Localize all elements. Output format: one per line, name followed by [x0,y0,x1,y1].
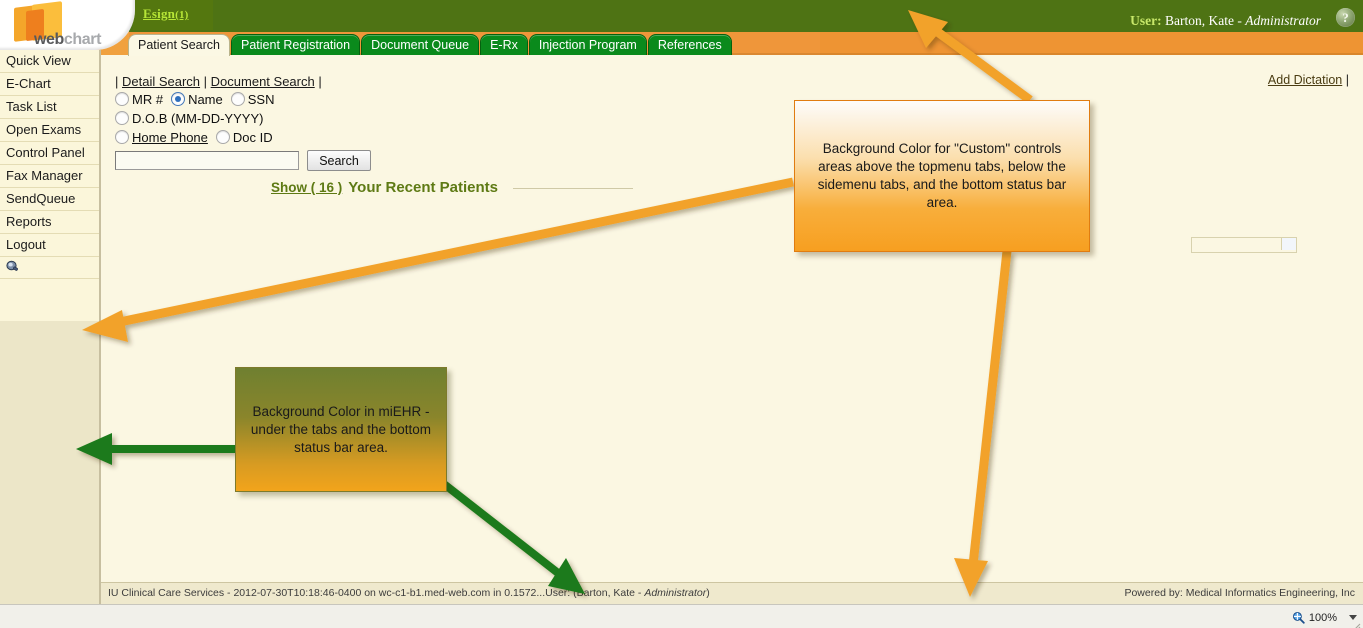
radio-mr-number[interactable] [115,92,129,106]
top-header-bar: Esign(1) User: Barton, Kate - Administra… [0,0,1363,32]
tab-patient-search[interactable]: Patient Search [128,34,230,56]
logo-word-web: web [34,31,64,48]
sidebar-item-control-panel[interactable]: Control Panel [0,142,99,165]
search-type-row-1: MR #NameSSN [115,92,282,107]
browser-status-bar: 100% [0,604,1363,628]
radio-name[interactable] [171,92,185,106]
main-content: | Detail Search | Document Search | Add … [101,55,1363,582]
logo-card-2 [32,1,62,41]
status-role: Administrator [644,587,706,599]
sidebar-plug-row[interactable] [0,257,99,279]
tab-patient-registration[interactable]: Patient Registration [231,34,360,56]
help-icon[interactable]: ? [1336,8,1355,27]
breadcrumb: | Detail Search | Document Search | [115,74,322,89]
sidebar-item-fax-manager[interactable]: Fax Manager [0,165,99,188]
zoom-level-value: 100% [1309,612,1337,624]
search-button[interactable]: Search [307,150,371,171]
radio-doc-id[interactable] [216,130,230,144]
recent-patients-title: Your Recent Patients [348,179,498,196]
breadcrumb-prefix: | [115,74,122,89]
status-bar-left-text: IU Clinical Care Services - 2012-07-30T1… [108,587,710,599]
detail-search-link[interactable]: Detail Search [122,74,200,89]
search-type-row-2: D.O.B (MM-DD-YYYY) [115,111,271,126]
sidebar-item-open-exams[interactable]: Open Exams [0,119,99,142]
esign-label: Esign [143,6,175,21]
sidebar-empty-area [0,321,99,628]
add-dictation-link[interactable]: Add Dictation [1268,73,1342,87]
recent-patients-header: Show ( 16 )Your Recent Patients [271,179,498,197]
custom-background-callout-text: Background Color for "Custom" controls a… [795,101,1089,251]
logo-wordmark: webchart [34,31,101,49]
sidebar-item-reports[interactable]: Reports [0,211,99,234]
user-label: User: [1130,13,1161,28]
sidebar-item-task-list[interactable]: Task List [0,96,99,119]
document-search-link[interactable]: Document Search [211,74,315,89]
esign-link[interactable]: Esign(1) [143,6,189,22]
tab-document-queue[interactable]: Document Queue [361,34,479,56]
search-type-row-3: Home PhoneDoc ID [115,130,281,145]
zoom-control[interactable]: 100% [1292,609,1357,626]
recent-patients-rule [513,188,633,189]
webchart-logo[interactable]: webchart [0,0,135,50]
show-recent-link[interactable]: Show ( 16 ) [271,180,342,195]
magnifier-icon [1292,611,1305,624]
label-ssn: SSN [248,92,275,107]
label-doc-id: Doc ID [233,130,273,145]
plug-icon[interactable] [6,260,19,273]
search-input[interactable] [115,151,299,170]
breadcrumb-suffix: | [315,74,322,89]
sidebar-item-quick-view[interactable]: Quick View [0,50,99,73]
label-name: Name [188,92,223,107]
miehr-background-callout-text: Background Color in miEHR - under the ta… [236,368,446,491]
breadcrumb-separator: | [200,74,211,89]
user-info: User: Barton, Kate - Administrator [1130,13,1321,29]
status-text: IU Clinical Care Services - 2012-07-30T1… [108,587,644,599]
radio-home-phone[interactable] [115,130,129,144]
radio-dob[interactable] [115,111,129,125]
user-name: Barton, Kate - [1165,13,1245,28]
user-role: Administrator [1245,13,1321,28]
side-menu: Quick ViewE-ChartTask ListOpen ExamsCont… [0,50,99,628]
esign-count: (1) [175,9,188,21]
logo-card-1 [14,4,44,42]
tab-injection-program[interactable]: Injection Program [529,34,647,56]
radio-ssn[interactable] [231,92,245,106]
logo-card-3 [26,9,44,41]
tab-references[interactable]: References [648,34,732,56]
add-dictation-suffix: | [1342,73,1349,87]
secondary-field[interactable] [1191,237,1297,253]
sidebar-item-e-chart[interactable]: E-Chart [0,73,99,96]
label-mr-number: MR # [132,92,163,107]
label-home-phone: Home Phone [132,130,208,145]
custom-background-callout: Background Color for "Custom" controls a… [794,100,1090,252]
tab-e-rx[interactable]: E-Rx [480,34,528,56]
add-dictation: Add Dictation | [1268,73,1349,87]
sidebar-item-logout[interactable]: Logout [0,234,99,257]
resize-grip[interactable] [1351,618,1361,628]
top-menu-tabs: Patient SearchPatient RegistrationDocume… [128,34,733,56]
powered-by-text: Powered by: Medical Informatics Engineer… [1124,587,1355,599]
status-tail: ) [706,587,710,599]
status-bar: IU Clinical Care Services - 2012-07-30T1… [101,582,1363,604]
app-window: Esign(1) User: Barton, Kate - Administra… [0,0,1363,628]
label-dob: D.O.B (MM-DD-YYYY) [132,111,263,126]
sidebar-item-sendqueue[interactable]: SendQueue [0,188,99,211]
logo-word-chart: chart [64,31,101,48]
miehr-background-callout: Background Color in miEHR - under the ta… [235,367,447,492]
